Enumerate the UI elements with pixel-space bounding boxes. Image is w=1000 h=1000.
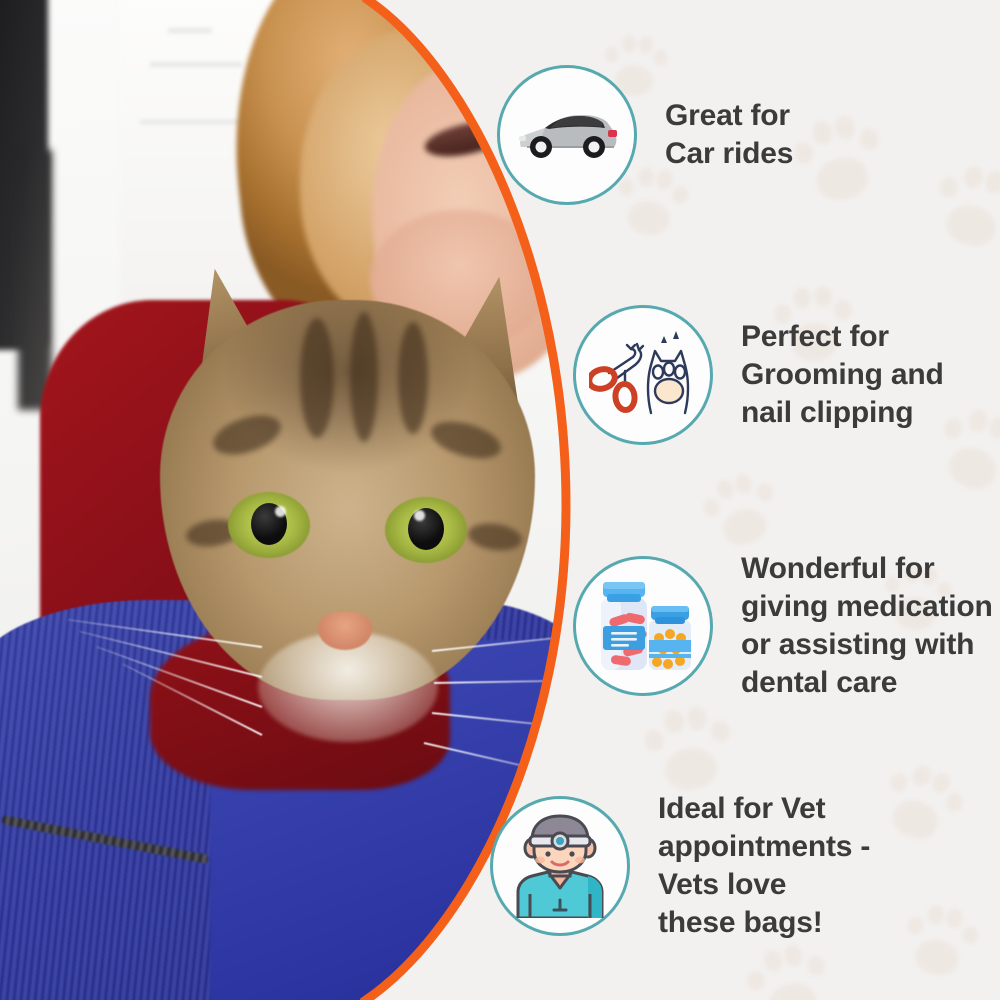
infographic-page: Great for Car rides (0, 0, 1000, 1000)
paw-watermark (920, 150, 1000, 262)
nail-clippers-paw-icon-circle (573, 305, 713, 445)
feature-grooming: Perfect for Grooming and nail clipping (573, 305, 944, 445)
feature-vet-visits: Ideal for Vet appointments - Vets love t… (490, 790, 870, 942)
veterinarian-icon-circle (490, 796, 630, 936)
paw-watermark (781, 101, 895, 215)
paw-watermark (634, 694, 742, 802)
paw-watermark (868, 748, 976, 856)
feature-label: Ideal for Vet appointments - Vets love t… (658, 790, 870, 942)
feature-label: Perfect for Grooming and nail clipping (741, 318, 944, 432)
paw-watermark (894, 894, 987, 987)
feature-label: Wonderful for giving medication or assis… (741, 550, 993, 702)
medicine-bottles-icon-circle (573, 556, 713, 696)
feature-car-rides: Great for Car rides (497, 65, 793, 205)
product-photo (0, 0, 575, 1000)
car-icon-circle (497, 65, 637, 205)
feature-medication: Wonderful for giving medication or assis… (573, 550, 993, 702)
paw-watermark (691, 461, 790, 560)
car-icon (515, 103, 619, 167)
medicine-bottles-icon (587, 576, 699, 676)
nail-clippers-paw-icon (589, 327, 697, 423)
feature-label: Great for Car rides (665, 97, 793, 173)
veterinarian-icon (510, 814, 610, 918)
